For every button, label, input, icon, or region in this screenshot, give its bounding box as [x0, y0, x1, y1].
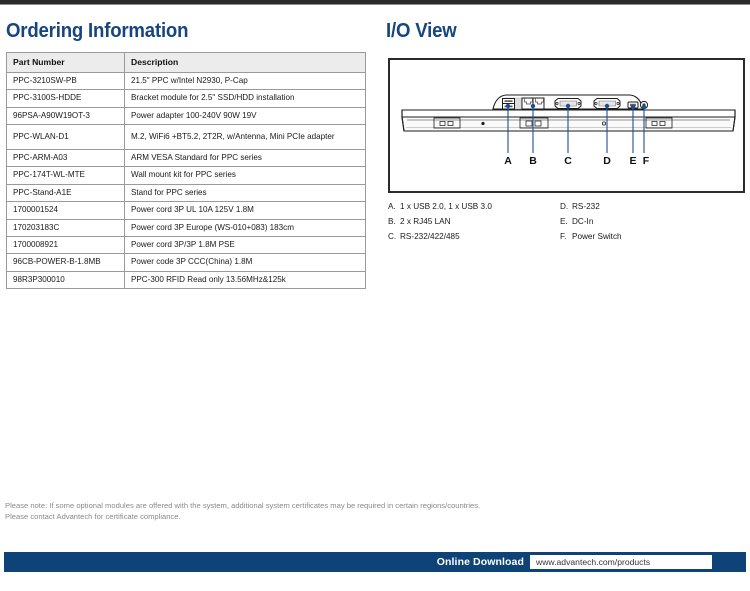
io-view-image-panel: A B C D E F [388, 58, 745, 193]
cell-description: Stand for PPC series [125, 184, 366, 201]
cell-part-number: PPC-ARM-A03 [7, 150, 125, 167]
footnote-line-1: Please note: If some optional modules ar… [5, 500, 745, 511]
page-title-ordering-information: Ordering Information [6, 20, 188, 43]
table-row: PPC-3210SW-PB21.5" PPC w/Intel N2930, P-… [7, 73, 366, 90]
column-header-description: Description [125, 53, 366, 73]
legend-text: Power Switch [572, 233, 622, 241]
table-row: PPC-3100S-HDDEBracket module for 2.5" SS… [7, 90, 366, 107]
footnote-line-2: Please contact Advantech for certificate… [5, 511, 745, 522]
table-row: PPC-Stand-A1EStand for PPC series [7, 184, 366, 201]
cell-description: PPC-300 RFID Read only 13.56MHz&125k [125, 271, 366, 288]
table-row: 96PSA-A90W19OT-3Power adapter 100-240V 9… [7, 107, 366, 124]
legend-key: B. [388, 218, 400, 226]
legend-row: C.RS-232/422/485F.Power Switch [388, 233, 745, 241]
cell-part-number: 1700001524 [7, 202, 125, 219]
cell-description: M.2, WiFi6 +BT5.2, 2T2R, w/Antenna, Mini… [125, 125, 366, 150]
legend-key: C. [388, 233, 400, 241]
table-row: PPC-WLAN-D1M.2, WiFi6 +BT5.2, 2T2R, w/An… [7, 125, 366, 150]
callout-letter-b: B [529, 155, 537, 167]
ordering-information-table: Part Number Description PPC-3210SW-PB21.… [6, 52, 366, 289]
callout-letter-f: F [643, 155, 650, 167]
legend-item: E.DC-In [560, 218, 732, 226]
cell-description: ARM VESA Standard for PPC series [125, 150, 366, 167]
legend-row: A.1 x USB 2.0, 1 x USB 3.0D.RS-232 [388, 203, 745, 211]
cell-description: Power adapter 100-240V 90W 19V [125, 107, 366, 124]
cell-description: Wall mount kit for PPC series [125, 167, 366, 184]
device-io-illustration: A B C D E F [390, 60, 745, 193]
cell-part-number: 96CB-POWER-B-1.8MB [7, 254, 125, 271]
table-row: 170203183CPower cord 3P Europe (WS-010+0… [7, 219, 366, 236]
table-header-row: Part Number Description [7, 53, 366, 73]
legend-item: A.1 x USB 2.0, 1 x USB 3.0 [388, 203, 560, 211]
callout-letter-d: D [603, 155, 611, 167]
legend-key: E. [560, 218, 572, 226]
online-download-label: Online Download [437, 556, 524, 568]
legend-text: RS-232 [572, 203, 600, 211]
legend-key: D. [560, 203, 572, 211]
cell-description: Power cord 3P UL 10A 125V 1.8M [125, 202, 366, 219]
legend-text: RS-232/422/485 [400, 233, 460, 241]
datasheet-page: Ordering Information Part Number Descrip… [0, 0, 750, 591]
callout-letter-a: A [504, 155, 512, 167]
cell-part-number: PPC-WLAN-D1 [7, 125, 125, 150]
cell-description: Power cord 3P/3P 1.8M PSE [125, 236, 366, 253]
table-row: 1700008921Power cord 3P/3P 1.8M PSE [7, 236, 366, 253]
cell-description: 21.5" PPC w/Intel N2930, P-Cap [125, 73, 366, 90]
page-title-io-view: I/O View [386, 20, 457, 43]
online-download-url[interactable]: www.advantech.com/products [530, 555, 712, 569]
cell-part-number: PPC-174T-WL-MTE [7, 167, 125, 184]
cell-description: Power code 3P CCC(China) 1.8M [125, 254, 366, 271]
legend-row: B.2 x RJ45 LANE.DC-In [388, 218, 745, 226]
legend-key: A. [388, 203, 400, 211]
io-view-legend: A.1 x USB 2.0, 1 x USB 3.0D.RS-232B.2 x … [388, 203, 745, 249]
footnote-block: Please note: If some optional modules ar… [5, 500, 745, 522]
cell-description: Power cord 3P Europe (WS-010+083) 183cm [125, 219, 366, 236]
column-header-part-number: Part Number [7, 53, 125, 73]
legend-item: B.2 x RJ45 LAN [388, 218, 560, 226]
io-callout-letters: A B C D E F [504, 155, 650, 167]
top-rule-divider [0, 0, 750, 5]
table-row: 98R3P300010PPC-300 RFID Read only 13.56M… [7, 271, 366, 288]
online-download-bar: Online Download www.advantech.com/produc… [4, 552, 746, 572]
callout-letter-c: C [564, 155, 572, 167]
legend-text: DC-In [572, 218, 593, 226]
cell-part-number: PPC-Stand-A1E [7, 184, 125, 201]
cell-description: Bracket module for 2.5" SSD/HDD installa… [125, 90, 366, 107]
cell-part-number: 98R3P300010 [7, 271, 125, 288]
cell-part-number: PPC-3100S-HDDE [7, 90, 125, 107]
table-row: PPC-ARM-A03ARM VESA Standard for PPC ser… [7, 150, 366, 167]
table-row: 96CB-POWER-B-1.8MBPower code 3P CCC(Chin… [7, 254, 366, 271]
cell-part-number: PPC-3210SW-PB [7, 73, 125, 90]
cell-part-number: 96PSA-A90W19OT-3 [7, 107, 125, 124]
legend-item: C.RS-232/422/485 [388, 233, 560, 241]
legend-item: F.Power Switch [560, 233, 732, 241]
legend-text: 2 x RJ45 LAN [400, 218, 451, 226]
table-row: PPC-174T-WL-MTEWall mount kit for PPC se… [7, 167, 366, 184]
cell-part-number: 170203183C [7, 219, 125, 236]
cell-part-number: 1700008921 [7, 236, 125, 253]
legend-key: F. [560, 233, 572, 241]
table-row: 1700001524Power cord 3P UL 10A 125V 1.8M [7, 202, 366, 219]
legend-item: D.RS-232 [560, 203, 732, 211]
callout-letter-e: E [629, 155, 636, 167]
legend-text: 1 x USB 2.0, 1 x USB 3.0 [400, 203, 492, 211]
